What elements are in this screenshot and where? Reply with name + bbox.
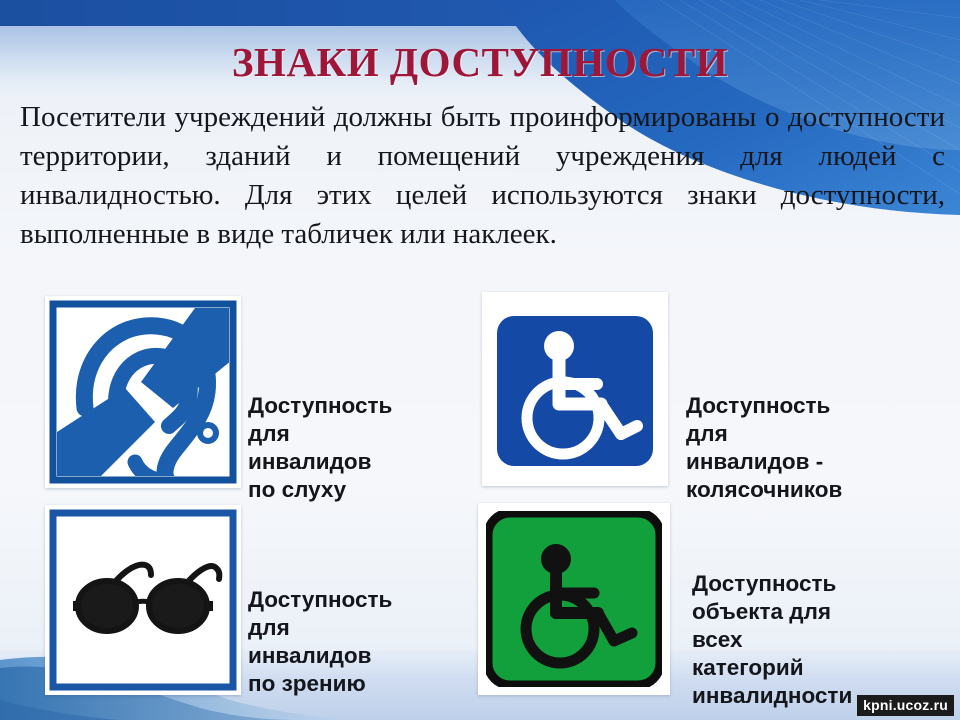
sign-frame-glasses	[45, 505, 241, 695]
wheelchair-green-icon	[486, 511, 662, 687]
sign-frame-wheelchair	[482, 292, 668, 486]
sign-frame-green-wheelchair	[478, 503, 670, 695]
intro-paragraph: Посетители учреждений должны быть проинф…	[20, 98, 945, 254]
glasses-icon	[45, 505, 241, 695]
sign-frame-deaf	[45, 296, 241, 488]
sign-caption-deaf: Доступность для инвалидов по слуху	[248, 392, 392, 504]
deaf-ear-icon	[45, 296, 241, 488]
slide: ЗНАКИ ДОСТУПНОСТИ Посетители учреждений …	[0, 0, 960, 720]
sign-caption-green-wheelchair: Доступность объекта для всех категорий и…	[692, 570, 852, 710]
watermark: kpni.ucoz.ru	[857, 695, 954, 716]
page-title: ЗНАКИ ДОСТУПНОСТИ	[0, 38, 960, 86]
wheelchair-icon	[497, 316, 653, 466]
sign-caption-glasses: Доступность для инвалидов по зрению	[248, 586, 392, 698]
sign-caption-wheelchair: Доступность для инвалидов - колясочников	[686, 392, 842, 504]
